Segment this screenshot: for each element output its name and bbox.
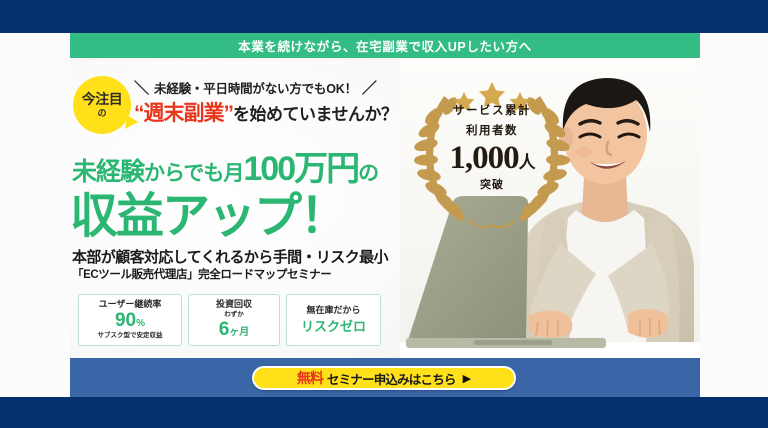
laurel-knot bbox=[468, 220, 516, 227]
cta-seminar-signup-button[interactable]: 無料 セミナー申込みはこちら ▶ bbox=[252, 366, 516, 390]
feature-value-text: リスクゼロ bbox=[301, 320, 366, 334]
lead-text-1: 本部が顧客対応してくれるから手間・リスク最小 bbox=[72, 246, 388, 267]
top-navy-bar bbox=[0, 0, 768, 33]
cta-free-label: 無料 bbox=[297, 368, 323, 388]
play-arrow-icon: ▶ bbox=[463, 372, 471, 385]
headline-post: の bbox=[358, 162, 378, 185]
feature-unit: ヶ月 bbox=[229, 327, 249, 338]
eyebrow-row: ＼ 未経験・平日時間がない方でもOK！ ／ bbox=[134, 77, 434, 98]
attention-badge: 今注目 の bbox=[73, 76, 131, 134]
feature-box-no-inventory: 無在庫だから リスクゼロ bbox=[286, 294, 381, 346]
lead-text-2: 「ECツール販売代理店」完全ロードマップセミナー bbox=[72, 266, 331, 282]
feature-title: 投資回収 bbox=[216, 300, 252, 309]
subheadline-rest: を始めていませんか？ bbox=[233, 105, 398, 124]
emblem-number-suffix: 人 bbox=[519, 153, 535, 172]
feature-title: ユーザー継続率 bbox=[99, 300, 162, 309]
feature-unit: % bbox=[136, 318, 145, 329]
attention-badge-line-1: 今注目 bbox=[82, 92, 123, 106]
emblem-line-3: 突破 bbox=[404, 176, 580, 192]
bottom-navy-bar bbox=[0, 397, 768, 428]
cta-label: セミナー申込みはこちら bbox=[327, 369, 456, 388]
emblem-number-row: 1,000人 bbox=[404, 140, 580, 177]
feature-tiny: わずか bbox=[224, 312, 244, 319]
feature-value: 90 bbox=[115, 310, 136, 331]
subheadline-highlight: “週末副業” bbox=[134, 102, 233, 125]
headline-line-2: 収益アップ！ bbox=[70, 176, 346, 246]
top-ribbon-banner: 本業を続けながら、在宅副業で収入UPしたい方へ bbox=[70, 33, 700, 58]
feature-box-group: ユーザー継続率 90% サブスク型で安定収益 投資回収 わずか 6ヶ月 無在庫だ… bbox=[78, 294, 381, 346]
feature-value-row: 90% bbox=[115, 311, 145, 331]
emblem-number: 1,000 bbox=[449, 140, 518, 176]
slash-right-icon: ／ bbox=[362, 77, 377, 98]
feature-box-payback: 投資回収 わずか 6ヶ月 bbox=[188, 294, 280, 346]
attention-badge-line-2: の bbox=[97, 109, 106, 118]
feature-value: 6 bbox=[219, 319, 230, 340]
slash-left-icon: ＼ bbox=[134, 77, 149, 98]
feature-value-row: 6ヶ月 bbox=[219, 320, 250, 340]
feature-footnote: サブスク型で安定収益 bbox=[98, 333, 163, 340]
page-root: 本業を続けながら、在宅副業で収入UPしたい方へ bbox=[0, 0, 768, 428]
feature-box-retention: ユーザー継続率 90% サブスク型で安定収益 bbox=[78, 294, 182, 346]
feature-title: 無在庫だから bbox=[306, 306, 360, 315]
subheadline-row: “週末副業”を始めていませんか？ bbox=[134, 97, 454, 127]
eyebrow-text: 未経験・平日時間がない方でもOK！ bbox=[154, 78, 357, 97]
ribbon-text: 本業を続けながら、在宅副業で収入UPしたい方へ bbox=[238, 36, 532, 55]
